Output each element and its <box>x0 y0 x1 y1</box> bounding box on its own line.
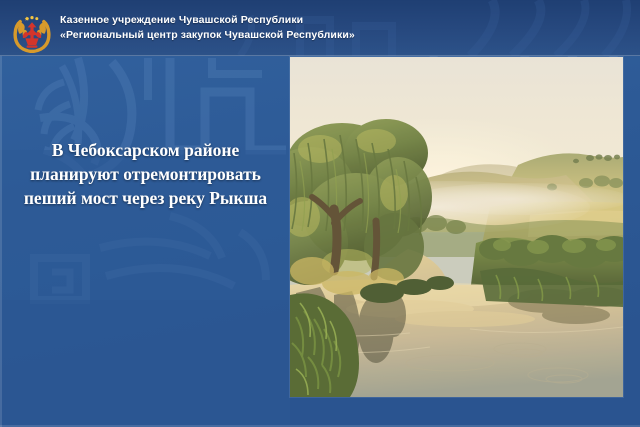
slide-canvas: Казенное учреждение Чувашской Республики… <box>0 0 640 427</box>
header-divider <box>0 55 640 56</box>
page-title: В Чебоксарском районе планируют отремонт… <box>8 138 283 210</box>
header-line-2: «Региональный центр закупок Чувашской Ре… <box>60 28 480 43</box>
header-organization-name: Казенное учреждение Чувашской Республики… <box>60 13 480 42</box>
coat-of-arms-of-chuvashia-icon <box>12 15 52 53</box>
landscape-photo <box>290 57 623 397</box>
header-bar: Казенное учреждение Чувашской Республики… <box>0 0 640 56</box>
header-line-1: Казенное учреждение Чувашской Республики <box>60 13 480 28</box>
slide-left-edge <box>0 56 2 427</box>
